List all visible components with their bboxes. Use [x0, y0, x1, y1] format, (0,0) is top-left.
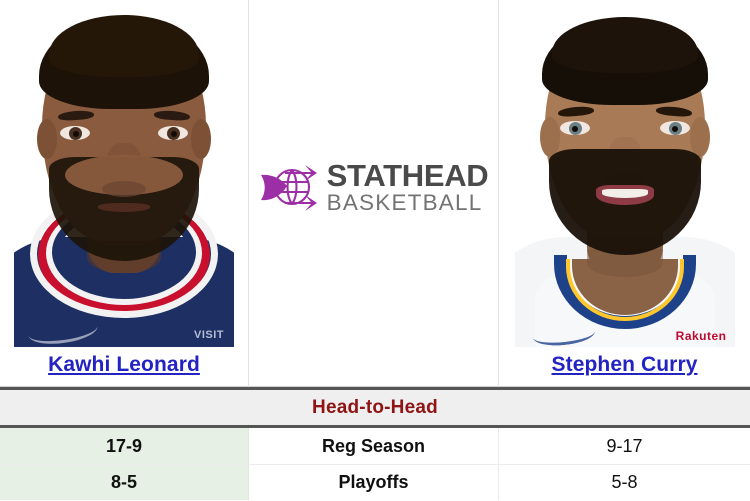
player-link-right[interactable]: Stephen Curry	[552, 353, 698, 376]
player-compare-header: VISIT	[0, 0, 750, 387]
table-row: 8-5 Playoffs 5-8	[0, 464, 750, 500]
stat-label: Playoffs	[249, 464, 499, 500]
player-name-bar-right: Stephen Curry	[499, 347, 750, 386]
stathead-basketball-arrow-icon	[259, 159, 321, 215]
stat-value-left: 8-5	[0, 464, 249, 500]
player-name-bar-left: Kawhi Leonard	[0, 347, 248, 386]
player-column-left: VISIT	[0, 0, 249, 387]
player-link-left[interactable]: Kawhi Leonard	[48, 353, 200, 376]
stathead-logo-cell: STATHEAD BASKETBALL	[249, 0, 498, 387]
stat-value-right: 9-17	[499, 428, 750, 464]
stathead-logo: STATHEAD BASKETBALL	[259, 159, 489, 215]
player-card-right: Rakuten	[499, 0, 750, 387]
logo-column: STATHEAD BASKETBALL	[249, 0, 499, 387]
logo-word-stathead: STATHEAD	[327, 160, 489, 191]
player-photo-left: VISIT	[14, 7, 234, 347]
stat-label: Reg Season	[249, 428, 499, 464]
logo-word-basketball: BASKETBALL	[327, 192, 489, 215]
stat-value-left: 17-9	[0, 428, 249, 464]
jersey-brand-left: VISIT	[194, 329, 224, 341]
player-card-left: VISIT	[0, 0, 248, 387]
head-to-head-title: Head-to-Head	[312, 397, 438, 419]
player-comparison-page: VISIT	[0, 0, 750, 501]
table-row: 17-9 Reg Season 9-17	[0, 428, 750, 464]
player-column-right: Rakuten	[499, 0, 750, 387]
head-to-head-banner: Head-to-Head	[0, 387, 750, 428]
head-to-head-table: 17-9 Reg Season 9-17 8-5 Playoffs 5-8	[0, 428, 750, 500]
player-photo-right: Rakuten	[515, 7, 735, 347]
stat-value-right: 5-8	[499, 464, 750, 500]
jersey-brand-right: Rakuten	[676, 329, 727, 343]
